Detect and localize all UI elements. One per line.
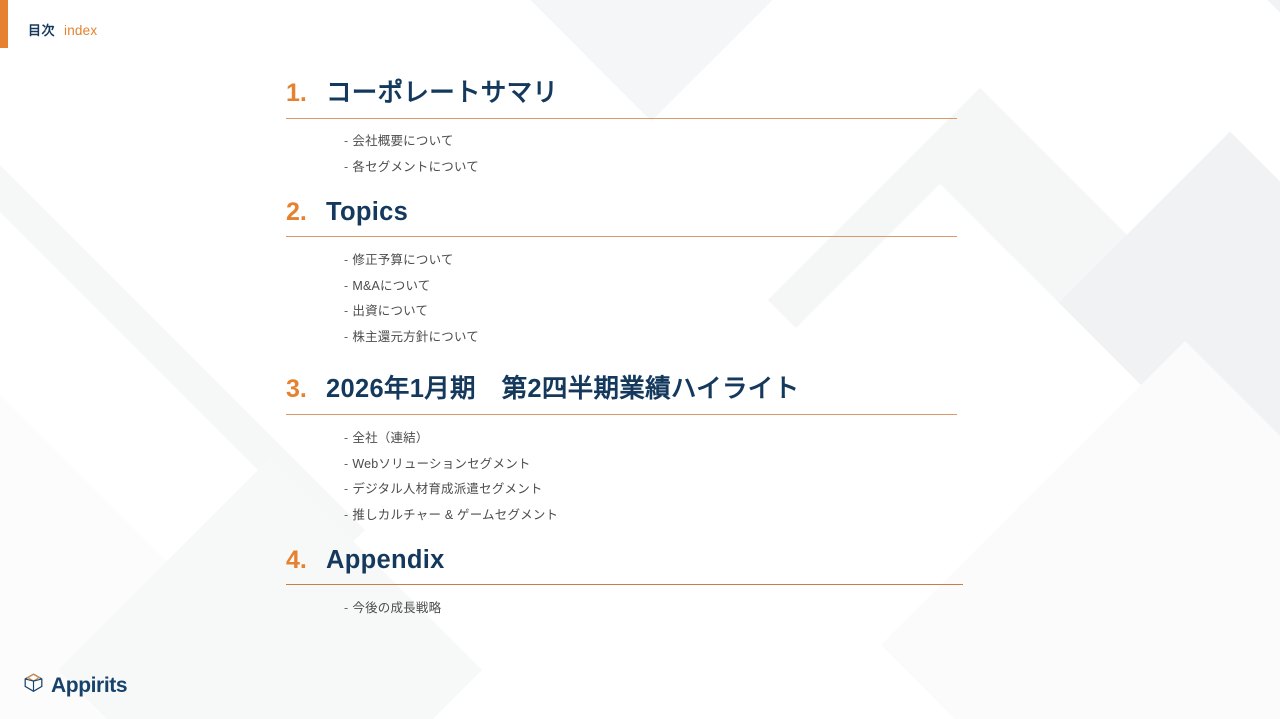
list-item-label: Webソリューションセグメント: [352, 457, 530, 471]
company-logo: Appirits: [23, 672, 127, 698]
toc-section-4-title: Appendix: [326, 546, 445, 575]
list-item[interactable]: -Webソリューションセグメント: [344, 452, 986, 478]
list-item[interactable]: -推しカルチャー & ゲームセグメント: [344, 503, 986, 529]
list-item-label: デジタル人材育成派遣セグメント: [352, 482, 542, 496]
bullet-dash-icon: -: [344, 253, 348, 267]
bullet-dash-icon: -: [344, 134, 348, 148]
toc-section-2: 2. Topics -修正予算について -M&Aについて -出資について -株主…: [286, 198, 986, 350]
toc-section-2-title: Topics: [326, 198, 408, 227]
list-item[interactable]: -株主還元方針について: [344, 325, 986, 351]
list-item-label: 今後の成長戦略: [352, 601, 441, 615]
slide-canvas: 目次 index 1. コーポレートサマリ -会社概要について -各セグメントに…: [0, 0, 1280, 719]
toc-section-3-title: 2026年1月期 第2四半期業績ハイライト: [326, 368, 799, 405]
toc-section-3: 3. 2026年1月期 第2四半期業績ハイライト -全社（連結） -Webソリュ…: [286, 368, 986, 528]
toc-section-2-items: -修正予算について -M&Aについて -出資について -株主還元方針について: [286, 237, 986, 350]
toc-section-4-heading[interactable]: 4. Appendix: [286, 546, 986, 575]
list-item-label: 各セグメントについて: [352, 160, 479, 174]
page-title-jp: 目次: [28, 20, 55, 39]
bullet-dash-icon: -: [344, 304, 348, 318]
list-item[interactable]: -出資について: [344, 299, 986, 325]
cube-icon: [23, 672, 44, 698]
bullet-dash-icon: -: [344, 160, 348, 174]
toc-section-1-items: -会社概要について -各セグメントについて: [286, 119, 986, 180]
list-item-label: 出資について: [352, 304, 428, 318]
list-item[interactable]: -今後の成長戦略: [344, 596, 986, 622]
toc-section-3-items: -全社（連結） -Webソリューションセグメント -デジタル人材育成派遣セグメン…: [286, 415, 986, 528]
list-item[interactable]: -各セグメントについて: [344, 155, 986, 181]
list-item-label: 全社（連結）: [352, 431, 428, 445]
list-item[interactable]: -全社（連結）: [344, 426, 986, 452]
toc-section-4: 4. Appendix -今後の成長戦略: [286, 546, 986, 622]
list-item-label: 会社概要について: [352, 134, 453, 148]
bullet-dash-icon: -: [344, 279, 348, 293]
toc-section-1: 1. コーポレートサマリ -会社概要について -各セグメントについて: [286, 72, 986, 180]
bullet-dash-icon: -: [344, 482, 348, 496]
toc-section-2-heading[interactable]: 2. Topics: [286, 198, 986, 227]
list-item[interactable]: -会社概要について: [344, 129, 986, 155]
bg-wedge-3: [0, 142, 298, 719]
bullet-dash-icon: -: [344, 508, 348, 522]
bullet-dash-icon: -: [344, 431, 348, 445]
toc-section-1-heading[interactable]: 1. コーポレートサマリ: [286, 72, 986, 109]
logo-wordmark: Appirits: [51, 675, 127, 696]
list-item[interactable]: -デジタル人材育成派遣セグメント: [344, 477, 986, 503]
list-item-label: 修正予算について: [352, 253, 453, 267]
bg-diamond-7: [0, 325, 255, 719]
toc-section-4-items: -今後の成長戦略: [286, 585, 986, 622]
toc-section-3-heading[interactable]: 3. 2026年1月期 第2四半期業績ハイライト: [286, 368, 986, 405]
toc-section-1-title: コーポレートサマリ: [326, 72, 558, 109]
bullet-dash-icon: -: [344, 457, 348, 471]
table-of-contents: 1. コーポレートサマリ -会社概要について -各セグメントについて 2. To…: [286, 72, 986, 622]
list-item[interactable]: -M&Aについて: [344, 274, 986, 300]
page-title-en: index: [64, 23, 97, 38]
list-item-label: M&Aについて: [352, 279, 430, 293]
toc-section-4-number: 4.: [286, 546, 326, 575]
toc-section-2-number: 2.: [286, 198, 326, 227]
toc-section-1-number: 1.: [286, 79, 326, 108]
toc-section-3-number: 3.: [286, 375, 326, 404]
page-title: 目次 index: [28, 20, 97, 39]
header-accent-bar: [0, 0, 8, 48]
bullet-dash-icon: -: [344, 601, 348, 615]
list-item-label: 推しカルチャー & ゲームセグメント: [352, 508, 558, 522]
bullet-dash-icon: -: [344, 330, 348, 344]
list-item[interactable]: -修正予算について: [344, 248, 986, 274]
list-item-label: 株主還元方針について: [352, 330, 479, 344]
